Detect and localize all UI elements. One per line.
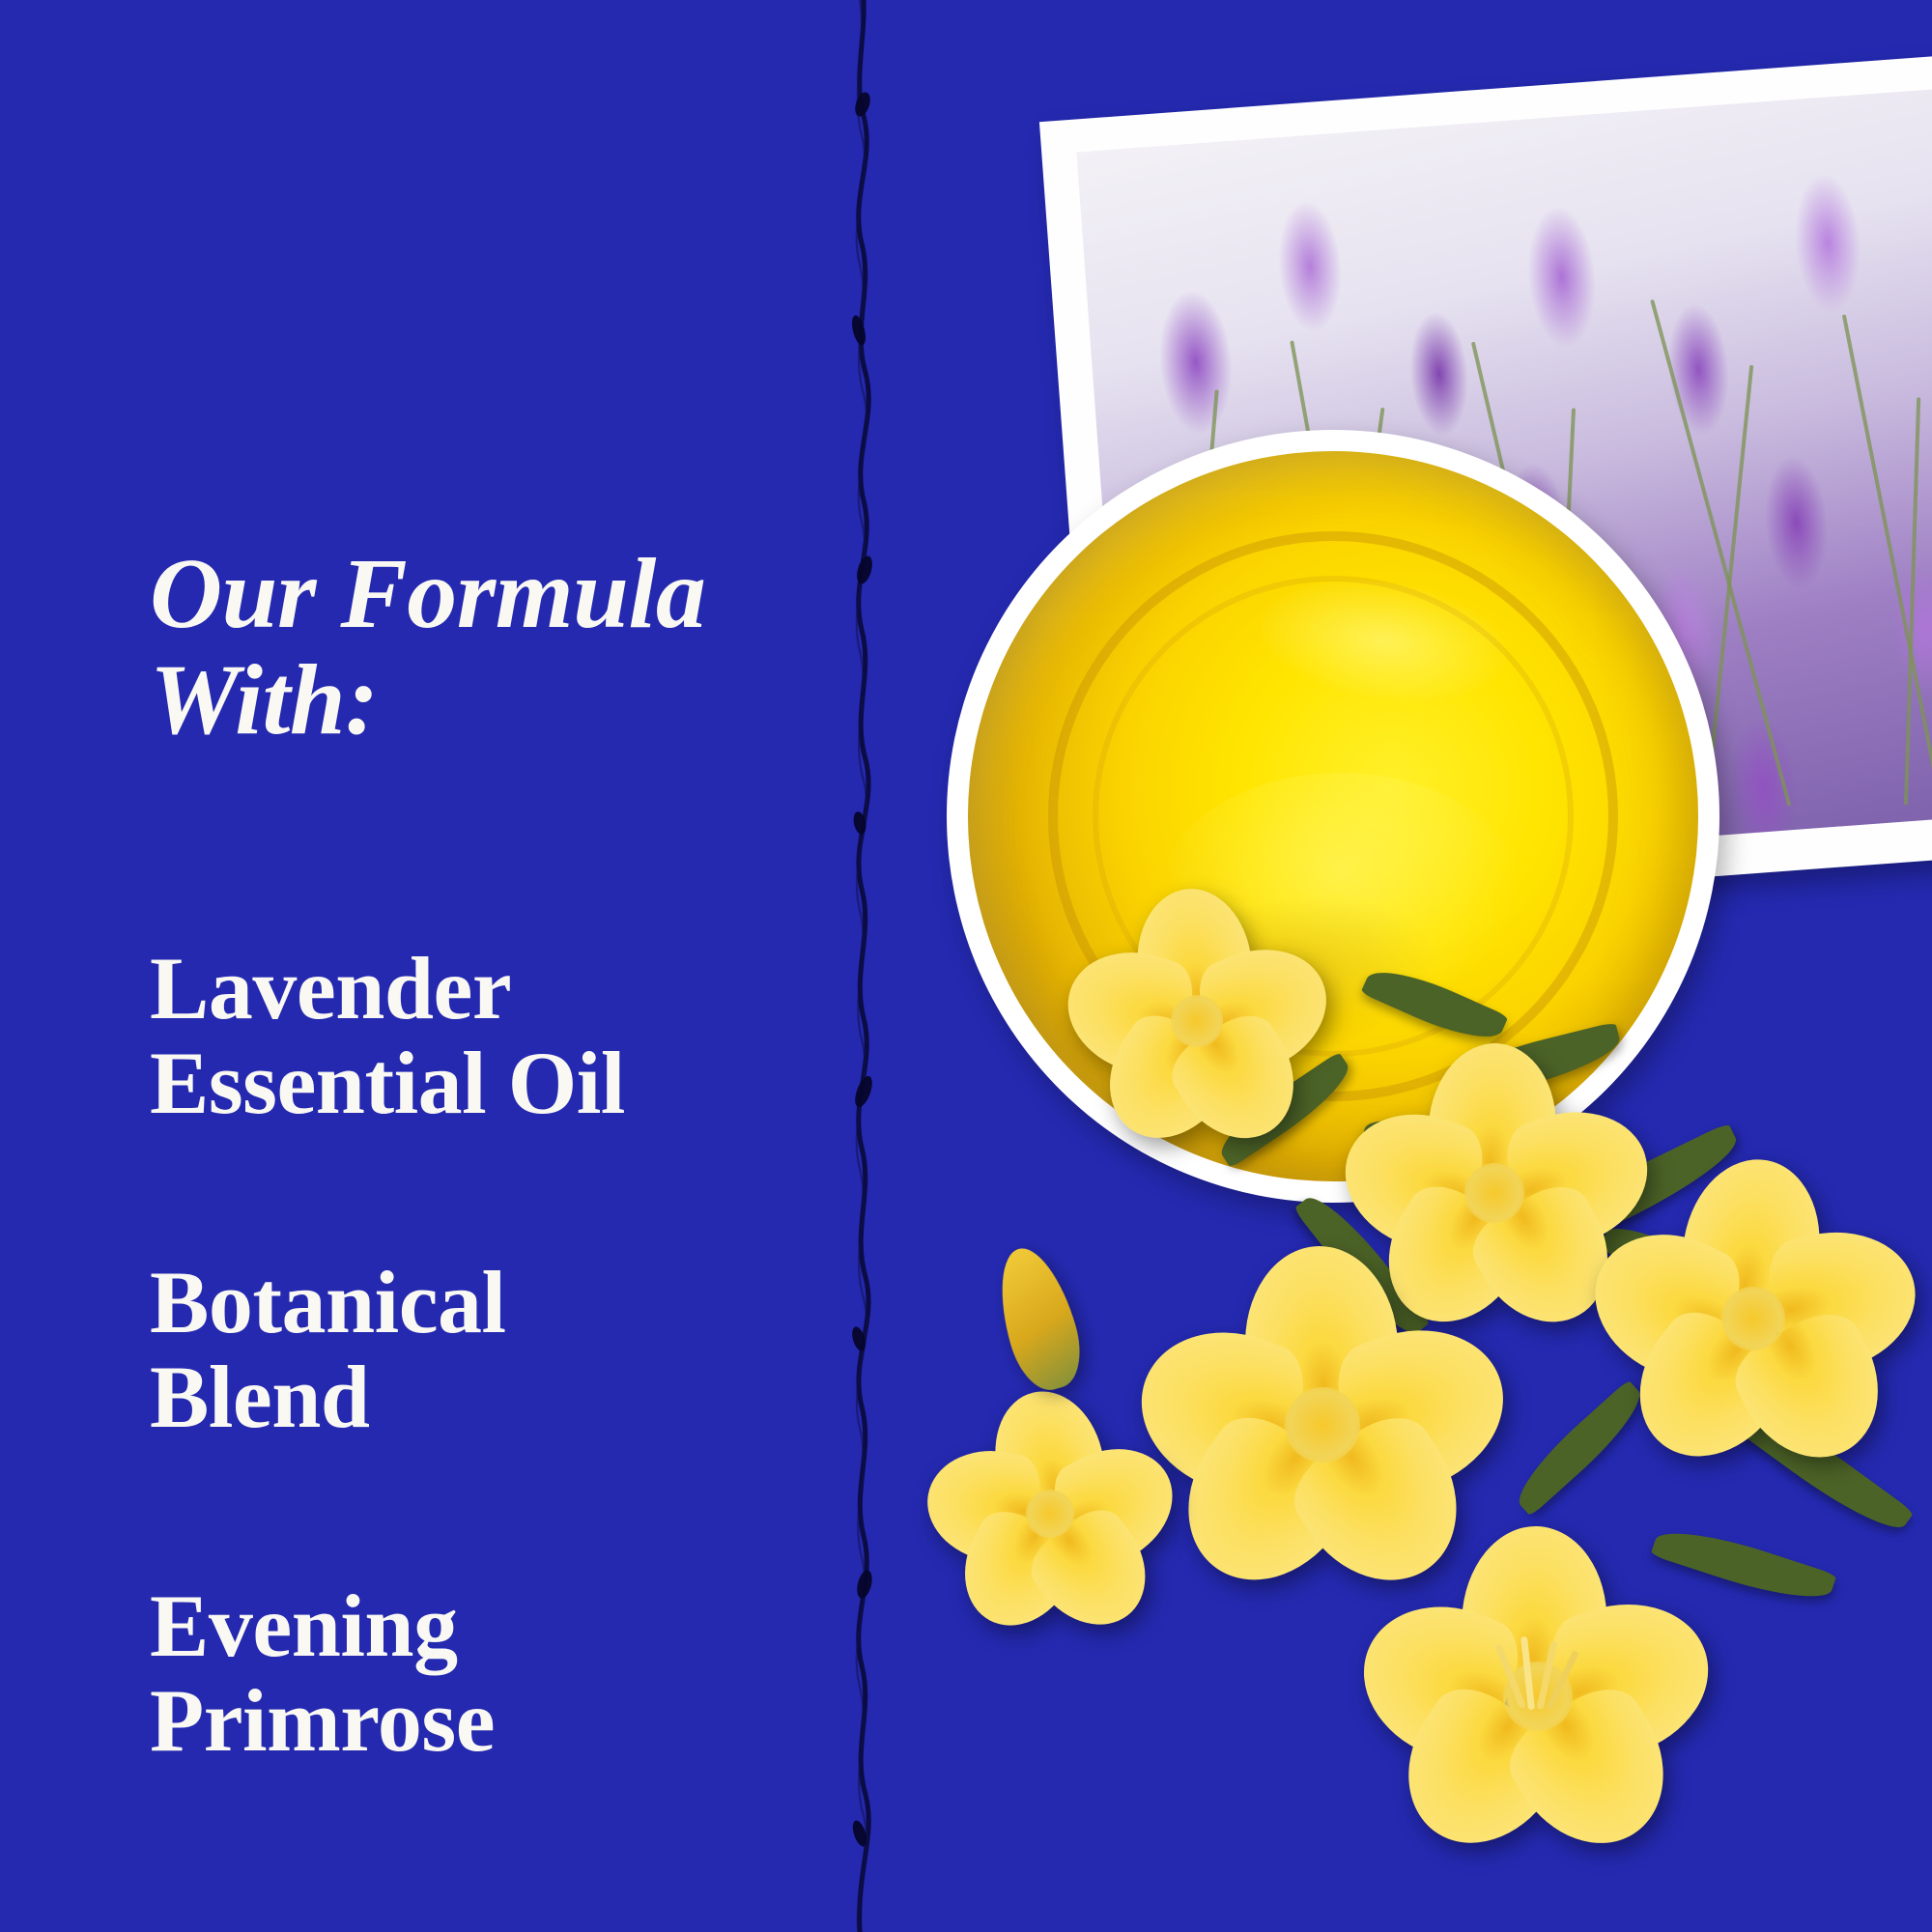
ingredient-collage xyxy=(860,0,1932,1932)
primrose-flower xyxy=(1594,1159,1913,1468)
ingredient-item-evening-primrose: Evening Primrose xyxy=(150,1579,816,1768)
evening-primrose-cluster xyxy=(860,927,1932,1932)
page-title: Our Formula With: xyxy=(150,541,826,753)
ingredient-item-lavender-essential-oil: Lavender Essential Oil xyxy=(150,942,816,1130)
product-ingredient-panel: Our Formula With: Lavender Essential Oil… xyxy=(0,0,1932,1932)
ingredient-item-botanical-blend: Botanical Blend xyxy=(150,1256,816,1444)
left-copy-panel: Our Formula With: Lavender Essential Oil… xyxy=(0,0,860,1932)
primrose-bud xyxy=(986,1239,1092,1397)
primrose-flower xyxy=(927,1391,1179,1633)
primrose-flower xyxy=(1063,889,1333,1150)
primrose-flower xyxy=(1362,1526,1710,1855)
